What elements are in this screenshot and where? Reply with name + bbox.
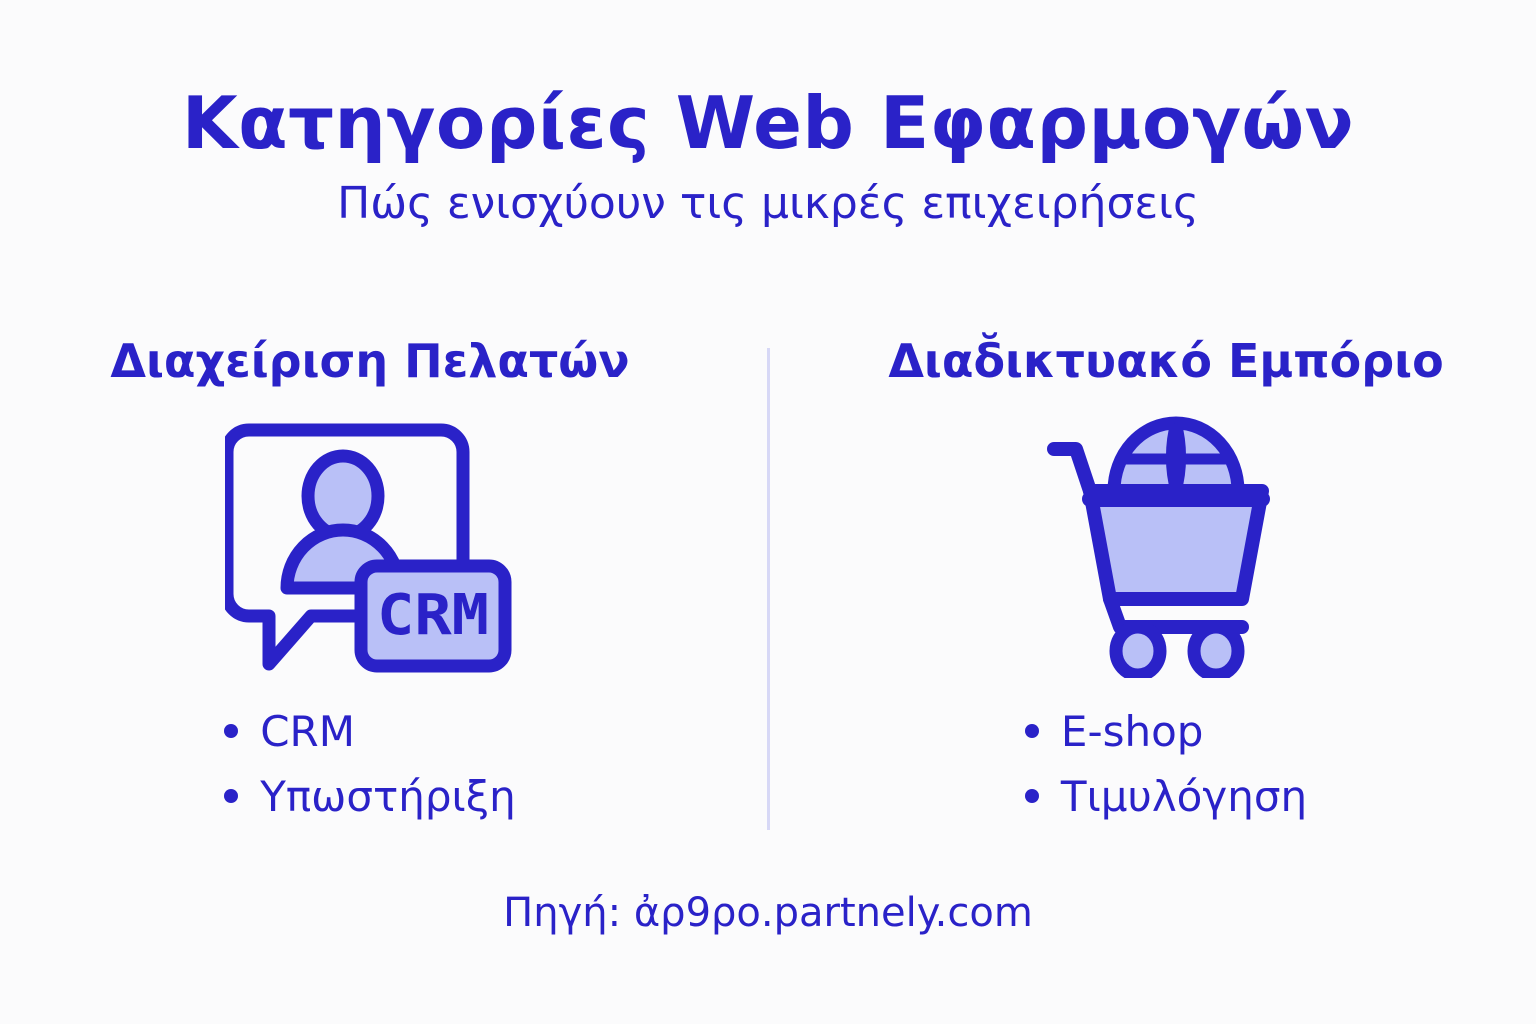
column-heading-left: Διαχείριση Πελατών (110, 336, 629, 387)
bullet-dot-icon (224, 724, 238, 738)
column-ecommerce: Διαδ̆ικτυακό Εμπόριο (768, 336, 1536, 829)
bullet-label: Τιμυλόγηση (1061, 764, 1307, 829)
cart-wheel-right (1194, 627, 1238, 675)
crm-speech-bubble-icon: CRM (225, 416, 515, 676)
crm-icon-wrap: CRM (225, 411, 515, 681)
cart-handle-shape (1054, 449, 1090, 491)
cart-basket-shape (1090, 491, 1262, 599)
bullet-dot-icon (1025, 724, 1039, 738)
list-item: Υπωστήριξη (224, 764, 516, 829)
bullet-list-left: CRM Υπωστήριξη (224, 699, 516, 829)
cart-wheel-left (1116, 627, 1160, 675)
list-item: CRM (224, 699, 516, 764)
page-subtitle: Πώς ενισχύουν τις μικρές επιχειρήσεις (0, 180, 1536, 228)
bullet-label: CRM (260, 699, 355, 764)
bullet-dot-icon (224, 789, 238, 803)
crm-badge-label: CRM (377, 583, 489, 648)
infographic-poster: Κατηγορίες Web Εφαρμογών Πώς ενισχύουν τ… (0, 0, 1536, 1024)
column-customer-management: Διαχείριση Πελατών CRM CRM (0, 336, 768, 829)
list-item: E-shop (1025, 699, 1307, 764)
ecommerce-cart-globe-icon (1046, 413, 1286, 678)
columns-container: Διαχείριση Πελατών CRM CRM (0, 336, 1536, 836)
list-item: Τιμυλόγηση (1025, 764, 1307, 829)
page-title: Κατηγορίες Web Εφαρμογών (0, 86, 1536, 162)
bullet-label: Υπωστήριξη (260, 764, 516, 829)
source-footer: Πηγή: ἀρ9ρο.partnely.com (0, 890, 1536, 936)
header: Κατηγορίες Web Εφαρμογών Πώς ενισχύουν τ… (0, 86, 1536, 228)
column-heading-right: Διαδ̆ικτυακό Εμπόριο (888, 336, 1443, 387)
bullet-list-right: E-shop Τιμυλόγηση (1025, 699, 1307, 829)
bullet-label: E-shop (1061, 699, 1204, 764)
bullet-dot-icon (1025, 789, 1039, 803)
ecommerce-icon-wrap (1046, 411, 1286, 681)
